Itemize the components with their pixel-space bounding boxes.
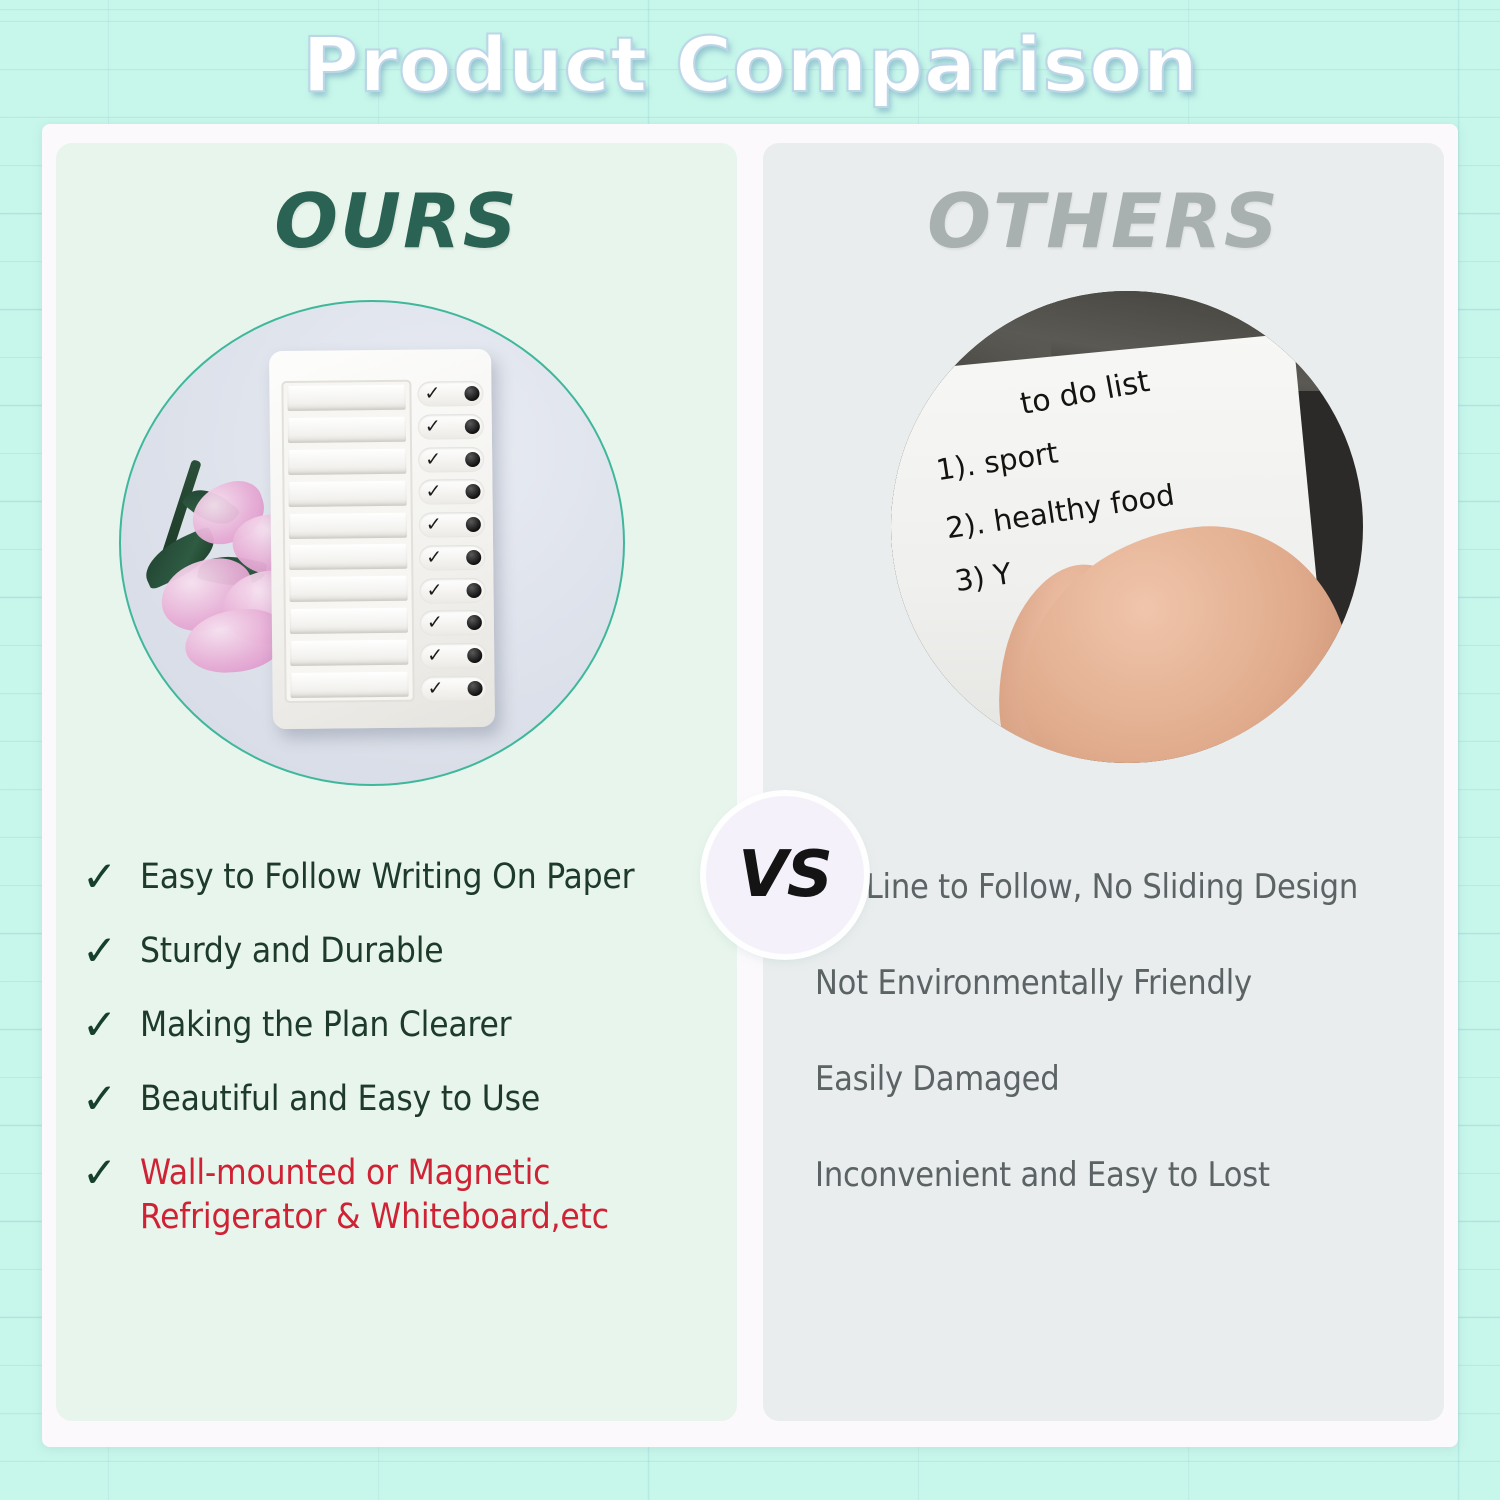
toggle-knob (464, 386, 479, 401)
board-slot (287, 385, 405, 411)
ours-panel: OURS (56, 143, 737, 1421)
board-toggle: ✓ (420, 643, 486, 669)
others-panel: OTHERS to do list 1). sport 2). healthy … (763, 143, 1444, 1421)
toggle-knob (465, 484, 480, 499)
vs-badge: VS (706, 796, 864, 954)
chore-board-slots (281, 380, 414, 703)
list-item: ✓ Beautiful and Easy to Use (82, 1077, 737, 1121)
ours-feature-label: Beautiful and Easy to Use (140, 1077, 540, 1121)
others-product-photo: to do list 1). sport 2). healthy food 3)… (891, 291, 1363, 763)
ours-heading: OURS (56, 177, 737, 265)
toggle-knob (466, 583, 481, 598)
checkmark-icon: ✓ (425, 415, 441, 438)
list-item: ✓ Sturdy and Durable (82, 929, 737, 973)
list-item: ✓ Making the Plan Clearer (82, 1003, 737, 1047)
others-feature-label: Easily Damaged (815, 1059, 1060, 1099)
board-slot (289, 576, 407, 602)
checkmark-icon: ✓ (425, 448, 441, 471)
board-slot (288, 480, 406, 506)
checkmark-icon: ✓ (425, 481, 441, 504)
checkmark-icon: ✓ (82, 1003, 120, 1047)
ours-feature-label: Making the Plan Clearer (140, 1003, 511, 1047)
checkmark-icon: ✓ (82, 1077, 120, 1121)
checkmark-icon: ✓ (82, 929, 120, 973)
comparison-panels: OURS (56, 143, 1444, 1421)
board-slot (290, 608, 408, 634)
others-feature-label: No Line to Follow, No Sliding Design (815, 867, 1358, 907)
page-title: Product Comparison (302, 20, 1198, 109)
board-toggle: ✓ (419, 578, 485, 604)
others-feature-label: Inconvenient and Easy to Lost (815, 1155, 1270, 1195)
list-item: Not Environmentally Friendly (815, 961, 1444, 1005)
toggle-knob (467, 681, 482, 696)
chore-board-toggles: ✓ ✓ ✓ ✓ ✓ ✓ ✓ ✓ ✓ ✓ (417, 381, 486, 702)
checkmark-icon: ✓ (82, 855, 120, 899)
board-slot (290, 640, 408, 666)
handwriting-line: 1). sport (934, 435, 1060, 487)
handwriting-line: 3) Y (953, 556, 1014, 598)
checkmark-icon: ✓ (427, 677, 443, 700)
board-toggle: ✓ (417, 381, 483, 407)
list-item: Easily Damaged (815, 1057, 1444, 1101)
list-item: Inconvenient and Easy to Lost (815, 1153, 1444, 1197)
checkmark-icon: ✓ (82, 1151, 120, 1195)
board-slot (290, 672, 408, 698)
ours-feature-label-highlighted: Wall-mounted or Magnetic Refrigerator & … (140, 1151, 660, 1239)
toggle-knob (465, 451, 480, 466)
board-toggle: ✓ (419, 512, 485, 538)
checkmark-icon: ✓ (424, 382, 440, 405)
handwriting-title: to do list (1018, 364, 1153, 422)
vs-label: VS (738, 838, 832, 912)
checkmark-icon: ✓ (427, 644, 443, 667)
others-feature-label: Not Environmentally Friendly (815, 963, 1252, 1003)
checkmark-icon: ✓ (426, 513, 442, 536)
comparison-card: OURS (42, 124, 1458, 1447)
chore-board: ✓ ✓ ✓ ✓ ✓ ✓ ✓ ✓ ✓ ✓ (269, 349, 495, 729)
others-heading: OTHERS (763, 177, 1444, 265)
others-feature-list: No Line to Follow, No Sliding Design Not… (763, 865, 1444, 1249)
board-slot (288, 448, 406, 474)
board-slot (289, 544, 407, 570)
list-item: ✓ Easy to Follow Writing On Paper (82, 855, 737, 899)
comparison-infographic: Product Comparison OURS (0, 0, 1500, 1500)
list-item: ✓ Wall-mounted or Magnetic Refrigerator … (82, 1151, 737, 1239)
board-slot (289, 512, 407, 538)
ours-product-photo: ✓ ✓ ✓ ✓ ✓ ✓ ✓ ✓ ✓ ✓ (119, 300, 625, 786)
ours-feature-list: ✓ Easy to Follow Writing On Paper ✓ Stur… (56, 855, 737, 1269)
toggle-knob (467, 648, 482, 663)
checkmark-icon: ✓ (426, 546, 442, 569)
board-toggle: ✓ (418, 479, 484, 505)
board-toggle: ✓ (420, 610, 486, 636)
list-item: No Line to Follow, No Sliding Design (815, 865, 1444, 909)
ours-feature-label: Easy to Follow Writing On Paper (140, 855, 634, 899)
board-toggle: ✓ (420, 676, 486, 702)
toggle-knob (466, 550, 481, 565)
toggle-knob (466, 517, 481, 532)
toggle-knob (465, 419, 480, 434)
board-slot (288, 417, 406, 443)
handwriting-line: 2). healthy food (944, 478, 1177, 546)
board-toggle: ✓ (418, 414, 484, 440)
board-toggle: ✓ (418, 446, 484, 472)
toggle-knob (467, 615, 482, 630)
checkmark-icon: ✓ (427, 612, 443, 635)
checkmark-icon: ✓ (426, 579, 442, 602)
ours-feature-label: Sturdy and Durable (140, 929, 443, 973)
page-title-area: Product Comparison (0, 14, 1500, 114)
board-toggle: ✓ (419, 545, 485, 571)
